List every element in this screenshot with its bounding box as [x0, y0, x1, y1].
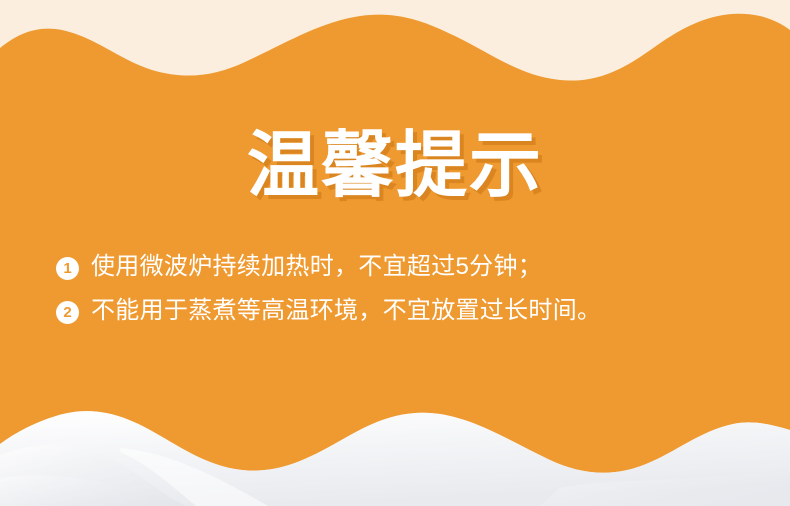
tips-banner: 温馨提示 1 使用微波炉持续加热时，不宜超过5分钟； 2 不能用于蒸煮等高温环境… — [0, 0, 790, 506]
orange-wave-body — [0, 14, 790, 473]
circled-number-one-icon: 1 — [56, 257, 79, 280]
list-item: 1 使用微波炉持续加热时，不宜超过5分钟； — [56, 252, 736, 282]
tip-text: 使用微波炉持续加热时，不宜超过5分钟； — [91, 252, 542, 282]
list-item: 2 不能用于蒸煮等高温环境，不宜放置过长时间。 — [56, 296, 736, 326]
tip-text: 不能用于蒸煮等高温环境，不宜放置过长时间。 — [91, 296, 601, 326]
tips-list: 1 使用微波炉持续加热时，不宜超过5分钟； 2 不能用于蒸煮等高温环境，不宜放置… — [56, 252, 736, 340]
circled-number-two-icon: 2 — [56, 301, 79, 324]
